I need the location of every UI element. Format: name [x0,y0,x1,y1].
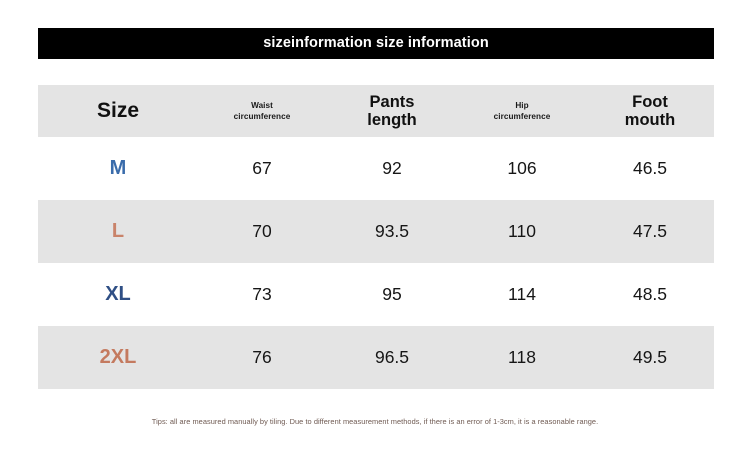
cell-waist-circumference: 73 [198,263,326,326]
title-text: sizeinformation size information [263,36,489,51]
size-label-l: L [112,220,124,242]
column-header-pants-line2: length [326,111,458,129]
cell-foot-mouth: 47.5 [586,200,714,263]
cell-size: L [38,200,198,263]
cell-foot-mouth: 49.5 [586,326,714,389]
cell-hip-circumference: 118 [458,326,586,389]
title-bar: sizeinformation size information [38,28,714,59]
size-label-m: M [110,157,127,179]
cell-waist-circumference: 76 [198,326,326,389]
table-header-row: Size Waist circumference Pants length Hi… [38,85,714,137]
cell-foot-mouth: 46.5 [586,137,714,200]
table-row: M 67 92 106 46.5 [38,137,714,200]
cell-waist-circumference: 67 [198,137,326,200]
cell-hip-circumference: 110 [458,200,586,263]
column-header-foot-mouth: Foot mouth [586,85,714,137]
cell-pants-length: 93.5 [326,200,458,263]
column-header-size: Size [38,85,198,137]
cell-size: XL [38,263,198,326]
column-header-hip-line2: circumference [458,111,586,122]
column-header-hip-line1: Hip [458,100,586,111]
cell-foot-mouth: 48.5 [586,263,714,326]
size-chart-sheet: sizeinformation size information Size Wa… [0,0,750,471]
size-information-table: Size Waist circumference Pants length Hi… [38,85,714,389]
table-row: XL 73 95 114 48.5 [38,263,714,326]
cell-hip-circumference: 106 [458,137,586,200]
cell-size: 2XL [38,326,198,389]
table-row: 2XL 76 96.5 118 49.5 [38,326,714,389]
column-header-waist-line1: Waist [198,100,326,111]
column-header-foot-line1: Foot [586,93,714,111]
column-header-waist-circumference: Waist circumference [198,85,326,137]
column-header-size-label: Size [38,100,198,122]
table-row: L 70 93.5 110 47.5 [38,200,714,263]
size-label-xl: XL [105,283,131,305]
measurement-tip-text: Tips: all are measured manually by tilin… [0,418,750,427]
cell-pants-length: 95 [326,263,458,326]
size-label-2xl: 2XL [100,346,137,368]
column-header-pants-length: Pants length [326,85,458,137]
cell-hip-circumference: 114 [458,263,586,326]
column-header-hip-circumference: Hip circumference [458,85,586,137]
column-header-pants-line1: Pants [326,93,458,111]
cell-pants-length: 92 [326,137,458,200]
column-header-foot-line2: mouth [586,111,714,129]
cell-size: M [38,137,198,200]
cell-waist-circumference: 70 [198,200,326,263]
column-header-waist-line2: circumference [198,111,326,122]
cell-pants-length: 96.5 [326,326,458,389]
